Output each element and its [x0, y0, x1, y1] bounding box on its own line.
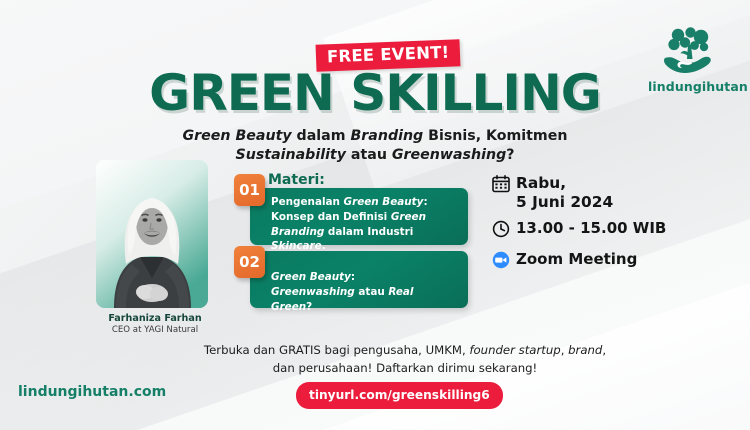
cta-text-3: ,	[602, 343, 606, 357]
subtitle-em-branding: Branding	[350, 128, 423, 144]
calendar-icon	[492, 174, 516, 198]
materi-number-badge-1: 01	[234, 174, 265, 206]
materi-card-1-text: Pengenalan Green Beauty: Konsep dan Defi…	[250, 188, 468, 254]
cta-em-brand: brand	[568, 343, 602, 357]
card2-line2-d: ?	[306, 301, 312, 313]
subtitle-em-green-beauty: Green Beauty	[183, 128, 292, 144]
footer-website[interactable]: lindungihutan.com	[18, 384, 166, 400]
card1-em-green-beauty: Green Beauty	[344, 196, 424, 208]
speaker-name: Farhaniza Farhan	[96, 313, 214, 324]
event-date-row: Rabu,5 Juni 2024	[492, 174, 666, 212]
speaker-photo	[96, 160, 208, 308]
cta-text-1: Terbuka dan GRATIS bagi pengusaha, UMKM,	[204, 343, 470, 357]
subtitle-line-1: Green Beauty dalam Branding Bisnis, Komi…	[0, 127, 750, 146]
speaker-card: Farhaniza Farhan CEO at YAGI Natural	[96, 160, 214, 335]
free-event-label: FREE EVENT!	[327, 43, 450, 67]
card2-line1-b: :	[351, 271, 355, 283]
subtitle-em-greenwashing: Greenwashing	[392, 147, 506, 163]
card1-em-green: Green	[391, 211, 426, 223]
card1-em-branding: Branding	[271, 226, 324, 238]
subtitle-em-sustainability: Sustainability	[236, 147, 346, 163]
speaker-role: CEO at YAGI Natural	[96, 325, 214, 335]
card2-em-greenwashing: Greenwashing	[271, 286, 355, 298]
subtitle-text-1: dalam	[292, 128, 351, 144]
card1-line2-a: Konsep dan Definisi	[271, 211, 391, 223]
materi-label: Materi:	[268, 172, 325, 188]
page-title: GREEN SKILLING	[0, 68, 750, 118]
cta-description: Terbuka dan GRATIS bagi pengusaha, UMKM,…	[120, 342, 690, 377]
card2-em-green-beauty: Green Beauty	[271, 271, 351, 283]
zoom-camera-icon	[492, 250, 516, 274]
event-platform-text: Zoom Meeting	[516, 250, 637, 268]
registration-link-button[interactable]: tinyurl.com/greenskilling6	[296, 382, 503, 409]
materi-number-badge-2: 02	[234, 246, 265, 278]
event-platform-row: Zoom Meeting	[492, 250, 666, 274]
subtitle-text-3: atau	[346, 147, 392, 163]
card2-line2-b: atau	[355, 286, 389, 298]
materi-card-1: Pengenalan Green Beauty: Konsep dan Defi…	[250, 188, 468, 245]
card1-line1-c: :	[423, 196, 427, 208]
event-date-line2: 5 Juni 2024	[516, 193, 613, 211]
event-date-text: Rabu,5 Juni 2024	[516, 174, 613, 212]
registration-link-label: tinyurl.com/greenskilling6	[309, 388, 490, 402]
event-time-text: 13.00 - 15.00 WIB	[516, 219, 666, 237]
materi-card-2: Green Beauty: Greenwashing atau Real Gre…	[250, 251, 468, 308]
subtitle-text-4: ?	[506, 147, 514, 163]
subtitle-text-2: Bisnis, Komitmen	[423, 128, 567, 144]
cta-line-2: dan perusahaan! Daftarkan dirimu sekaran…	[120, 360, 690, 378]
cta-text-2: ,	[561, 343, 568, 357]
materi-card-2-text: Green Beauty: Greenwashing atau Real Gre…	[250, 251, 468, 314]
event-date-line1: Rabu,	[516, 174, 566, 192]
event-details: Rabu,5 Juni 2024 13.00 - 15.00 WIB Z	[492, 174, 666, 281]
card1-line1-a: Pengenalan	[271, 196, 344, 208]
speaker-portrait-illustration	[96, 160, 208, 308]
clock-icon	[492, 219, 516, 243]
cta-em-founder-startup: founder startup	[469, 343, 560, 357]
event-time-row: 13.00 - 15.00 WIB	[492, 219, 666, 243]
cta-line-1: Terbuka dan GRATIS bagi pengusaha, UMKM,…	[120, 342, 690, 360]
poster-canvas: lindungihutan FREE EVENT! GREEN SKILLING…	[0, 0, 750, 430]
card1-line3-b: dalam Industri	[324, 226, 413, 238]
